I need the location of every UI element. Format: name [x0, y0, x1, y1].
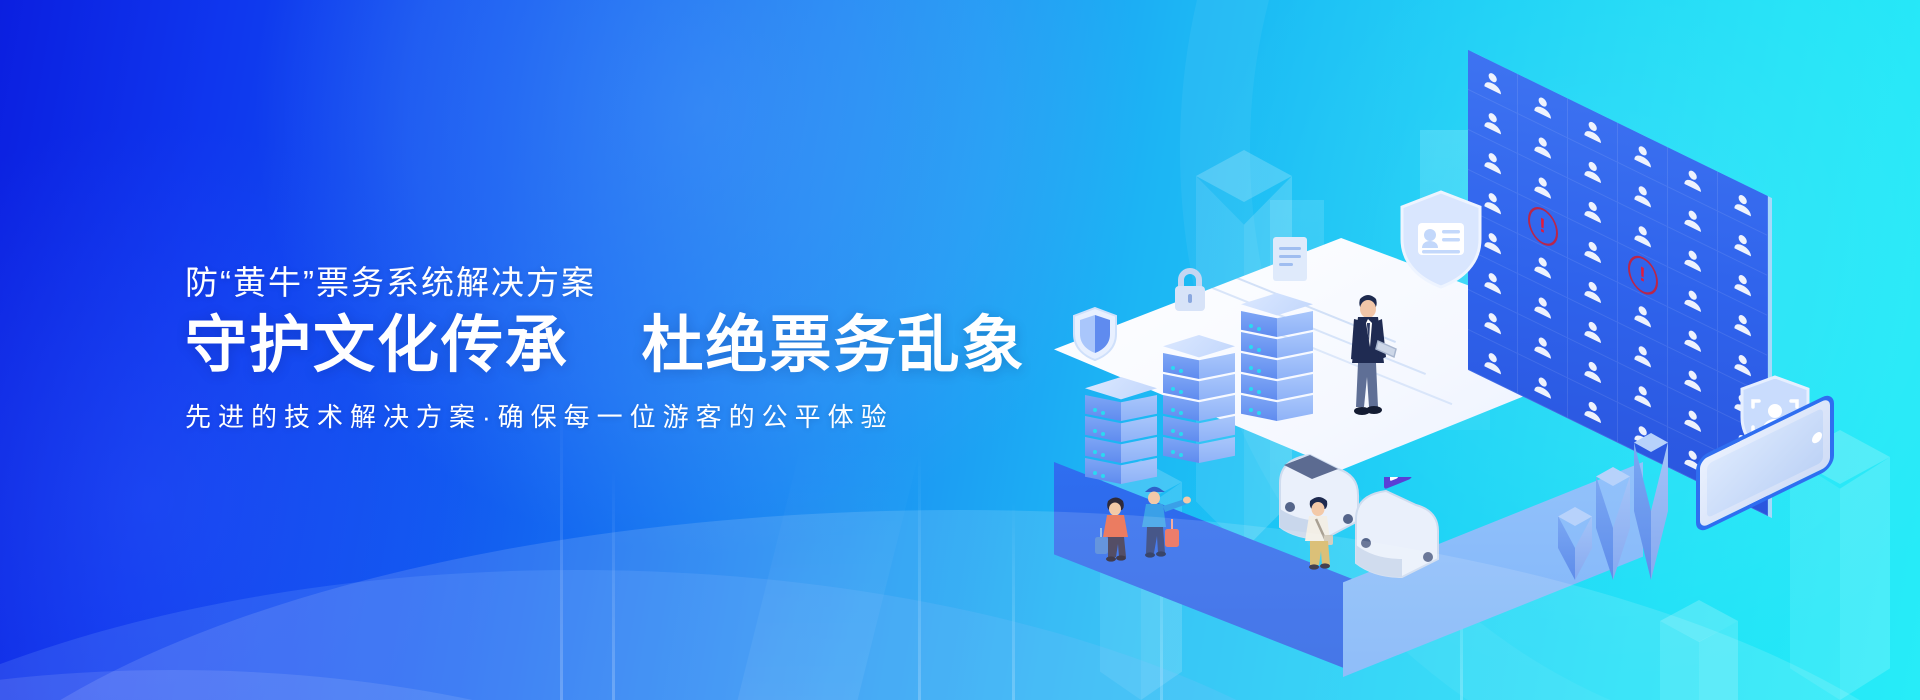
hero-banner: ! ! [0, 0, 1920, 700]
hero-copy: 防“黄牛”票务系统解决方案 守护文化传承 杜绝票务乱象 先进的技术解决方案·确保… [185, 262, 1026, 434]
eyebrow-text: 防“黄牛”票务系统解决方案 [185, 262, 1026, 303]
id-card-shield-icon [1398, 190, 1484, 290]
server-rack-icon [1234, 293, 1320, 423]
subline-text: 先进的技术解决方案·确保每一位游客的公平体验 [185, 401, 1026, 435]
headline-left: 守护文化传承 [185, 311, 569, 380]
padlock-icon [1168, 265, 1212, 315]
user-grid-wall: ! ! [1468, 123, 1768, 443]
document-icon [1270, 235, 1310, 285]
server-rack-icon [1156, 335, 1242, 465]
staff-with-laptop [1338, 283, 1398, 433]
headline-right: 杜绝票务乱象 [641, 311, 1025, 380]
shield-icon [1072, 307, 1118, 361]
headline: 守护文化传承 杜绝票务乱象 [185, 311, 1026, 380]
